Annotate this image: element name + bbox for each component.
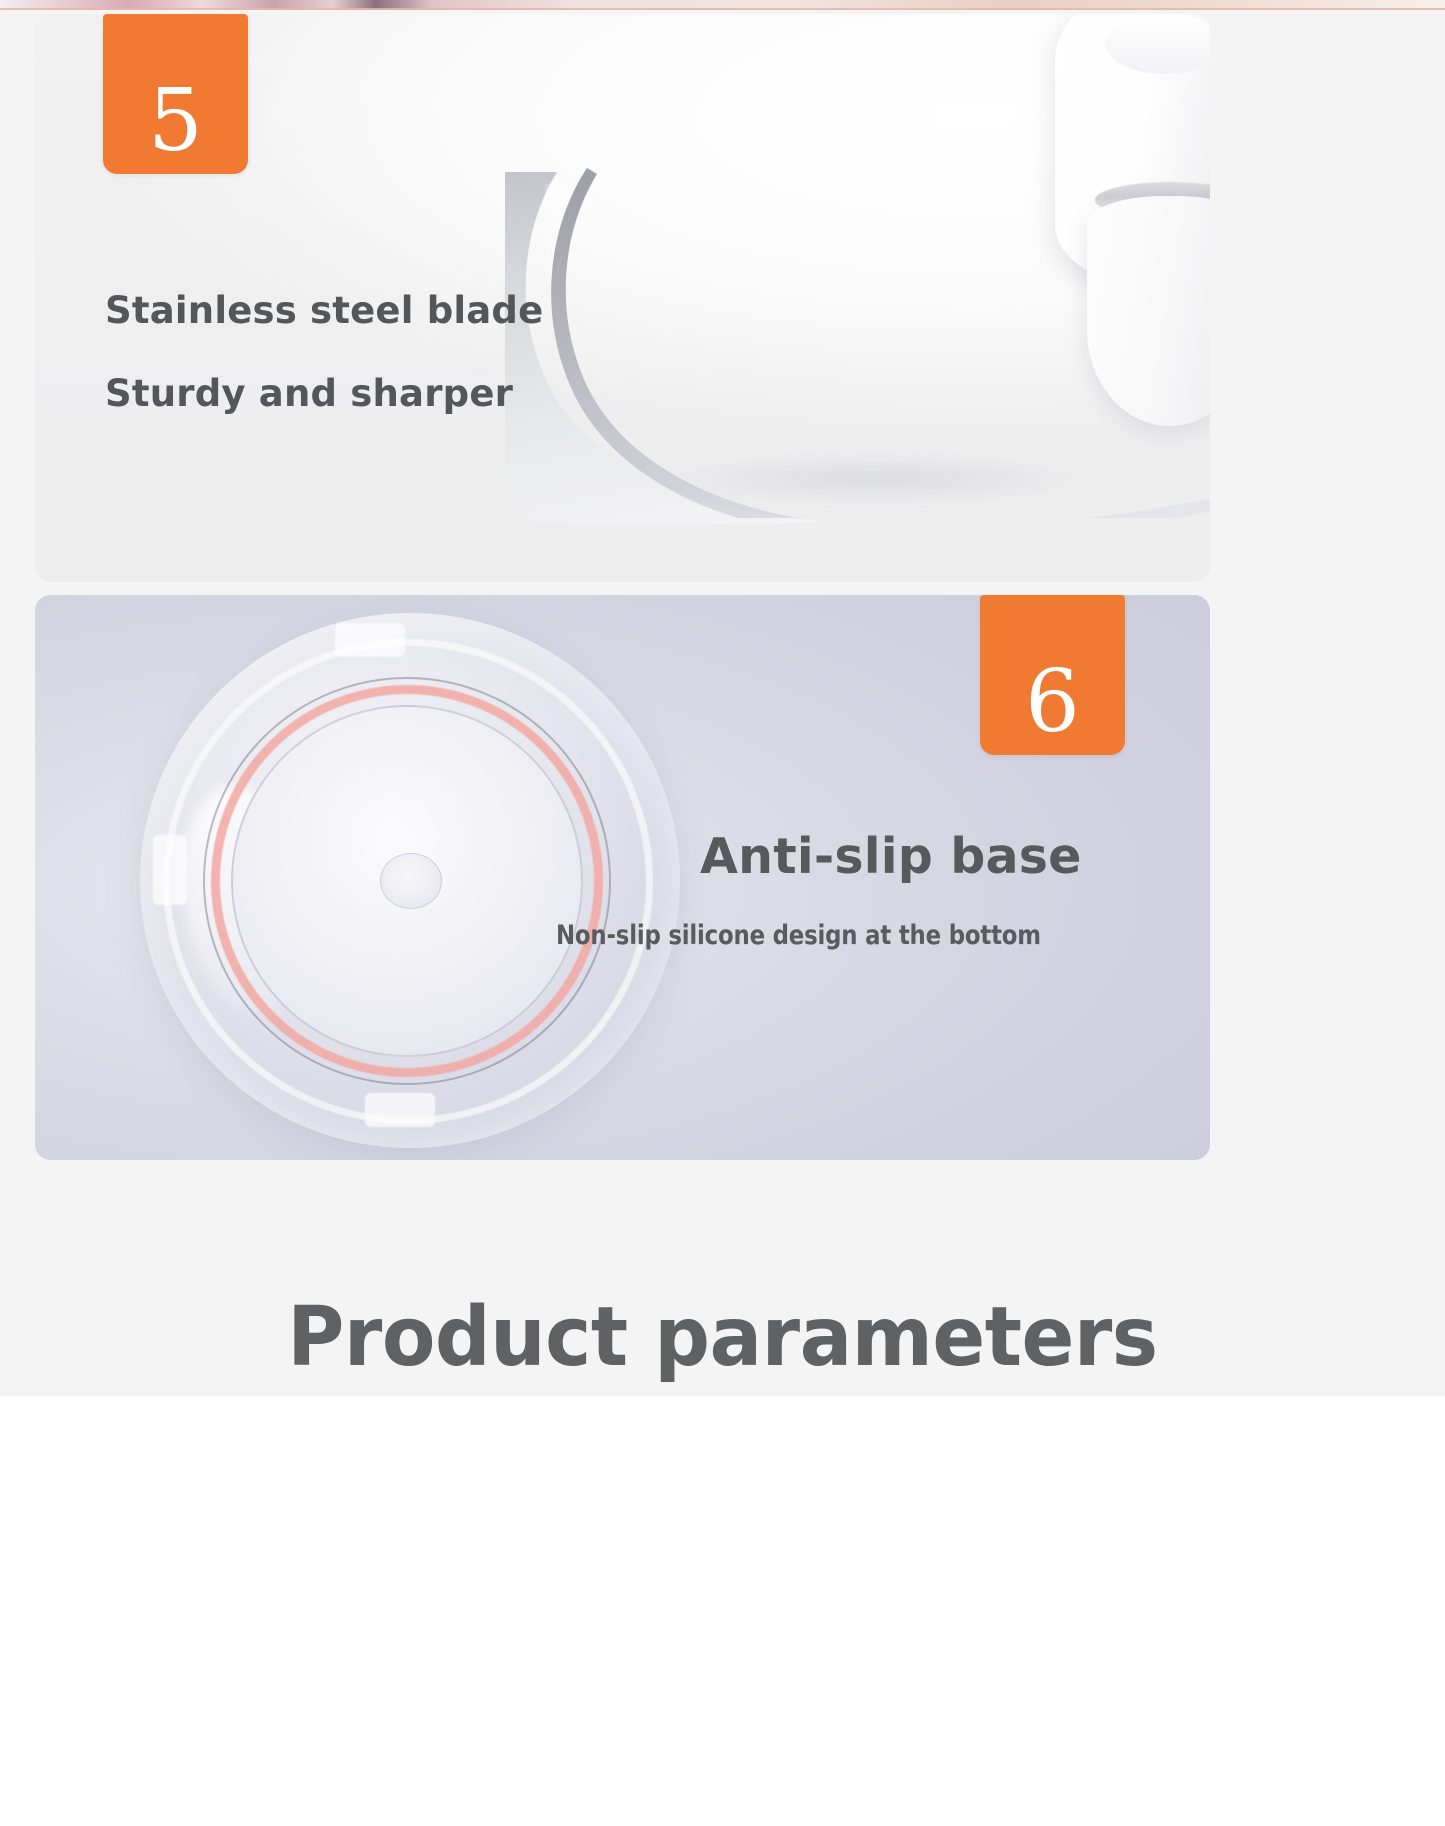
blade-shadow-shape: [555, 444, 1195, 514]
previous-section-sliver: [0, 0, 1445, 10]
bowl-tab-bottom: [365, 1093, 435, 1127]
blade-feature-line-2: Sturdy and sharper: [105, 375, 625, 412]
bowl-tab-left: [153, 835, 187, 905]
product-parameters-band: [0, 1396, 1445, 1826]
step-badge-5-number: 5: [148, 78, 203, 174]
step-badge-5: 5: [103, 14, 248, 174]
blade-sheen-shape: [545, 184, 1210, 484]
step-badge-6: 6: [980, 595, 1125, 755]
sliver-rule: [0, 8, 1445, 10]
product-parameters-heading: Product parameters: [36, 1297, 1409, 1379]
bowl-center-hub-shape: [380, 853, 442, 909]
blade-feature-text: Stainless steel blade Sturdy and sharper: [105, 292, 625, 412]
anti-slip-base-subtitle: Non-slip silicone design at the bottom: [556, 922, 1139, 949]
blade-feature-line-1: Stainless steel blade: [105, 292, 625, 329]
page-background: 5 Stainless steel blade Sturdy and sharp…: [0, 0, 1445, 1826]
step-badge-6-number: 6: [1025, 659, 1080, 755]
bowl-tab-top: [335, 623, 405, 657]
anti-slip-base-title: Anti-slip base: [700, 832, 1170, 881]
